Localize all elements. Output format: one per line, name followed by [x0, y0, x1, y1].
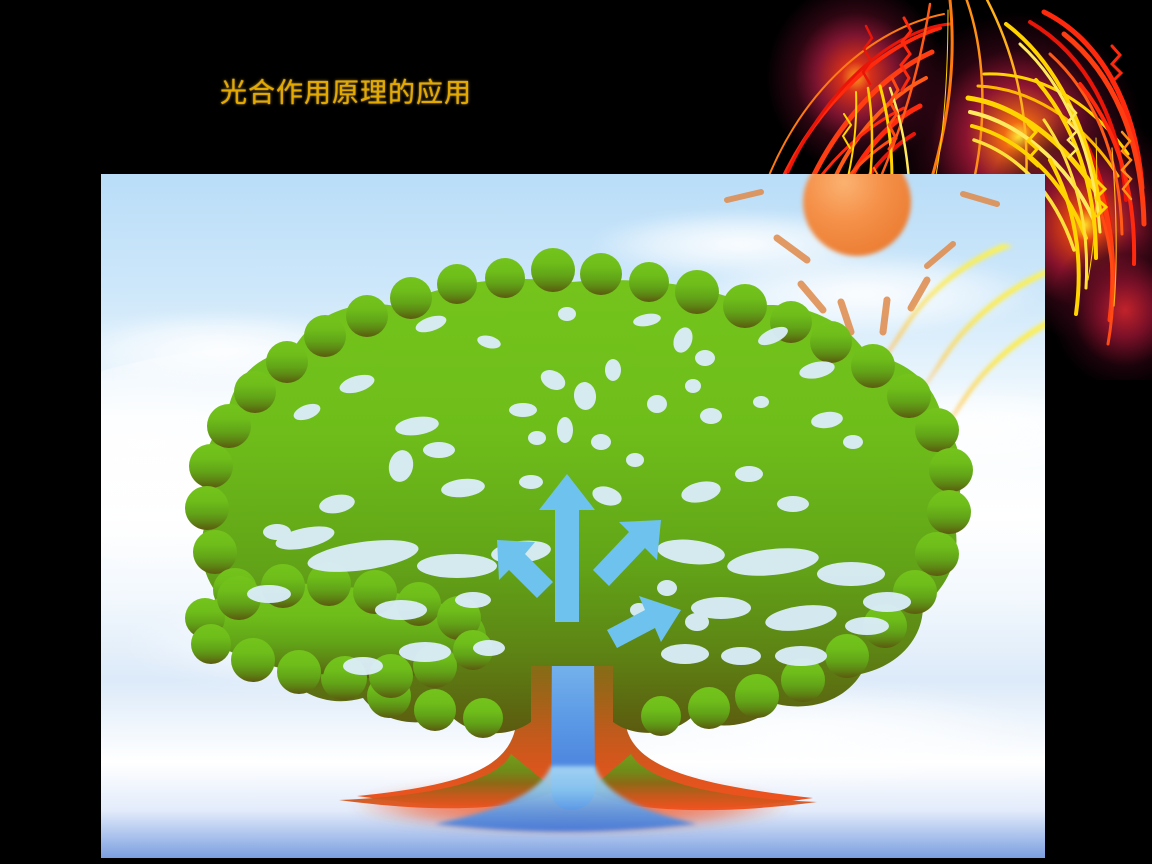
photosynthesis-tree-illustration: [101, 174, 1045, 858]
firework-glow-1: [766, 0, 946, 172]
page-title: 光合作用原理的应用: [220, 76, 472, 110]
firework-glow-4: [1050, 230, 1152, 380]
slide-canvas: 光合作用原理的应用: [0, 0, 1152, 864]
tree-scene-graphic: [101, 174, 1045, 858]
